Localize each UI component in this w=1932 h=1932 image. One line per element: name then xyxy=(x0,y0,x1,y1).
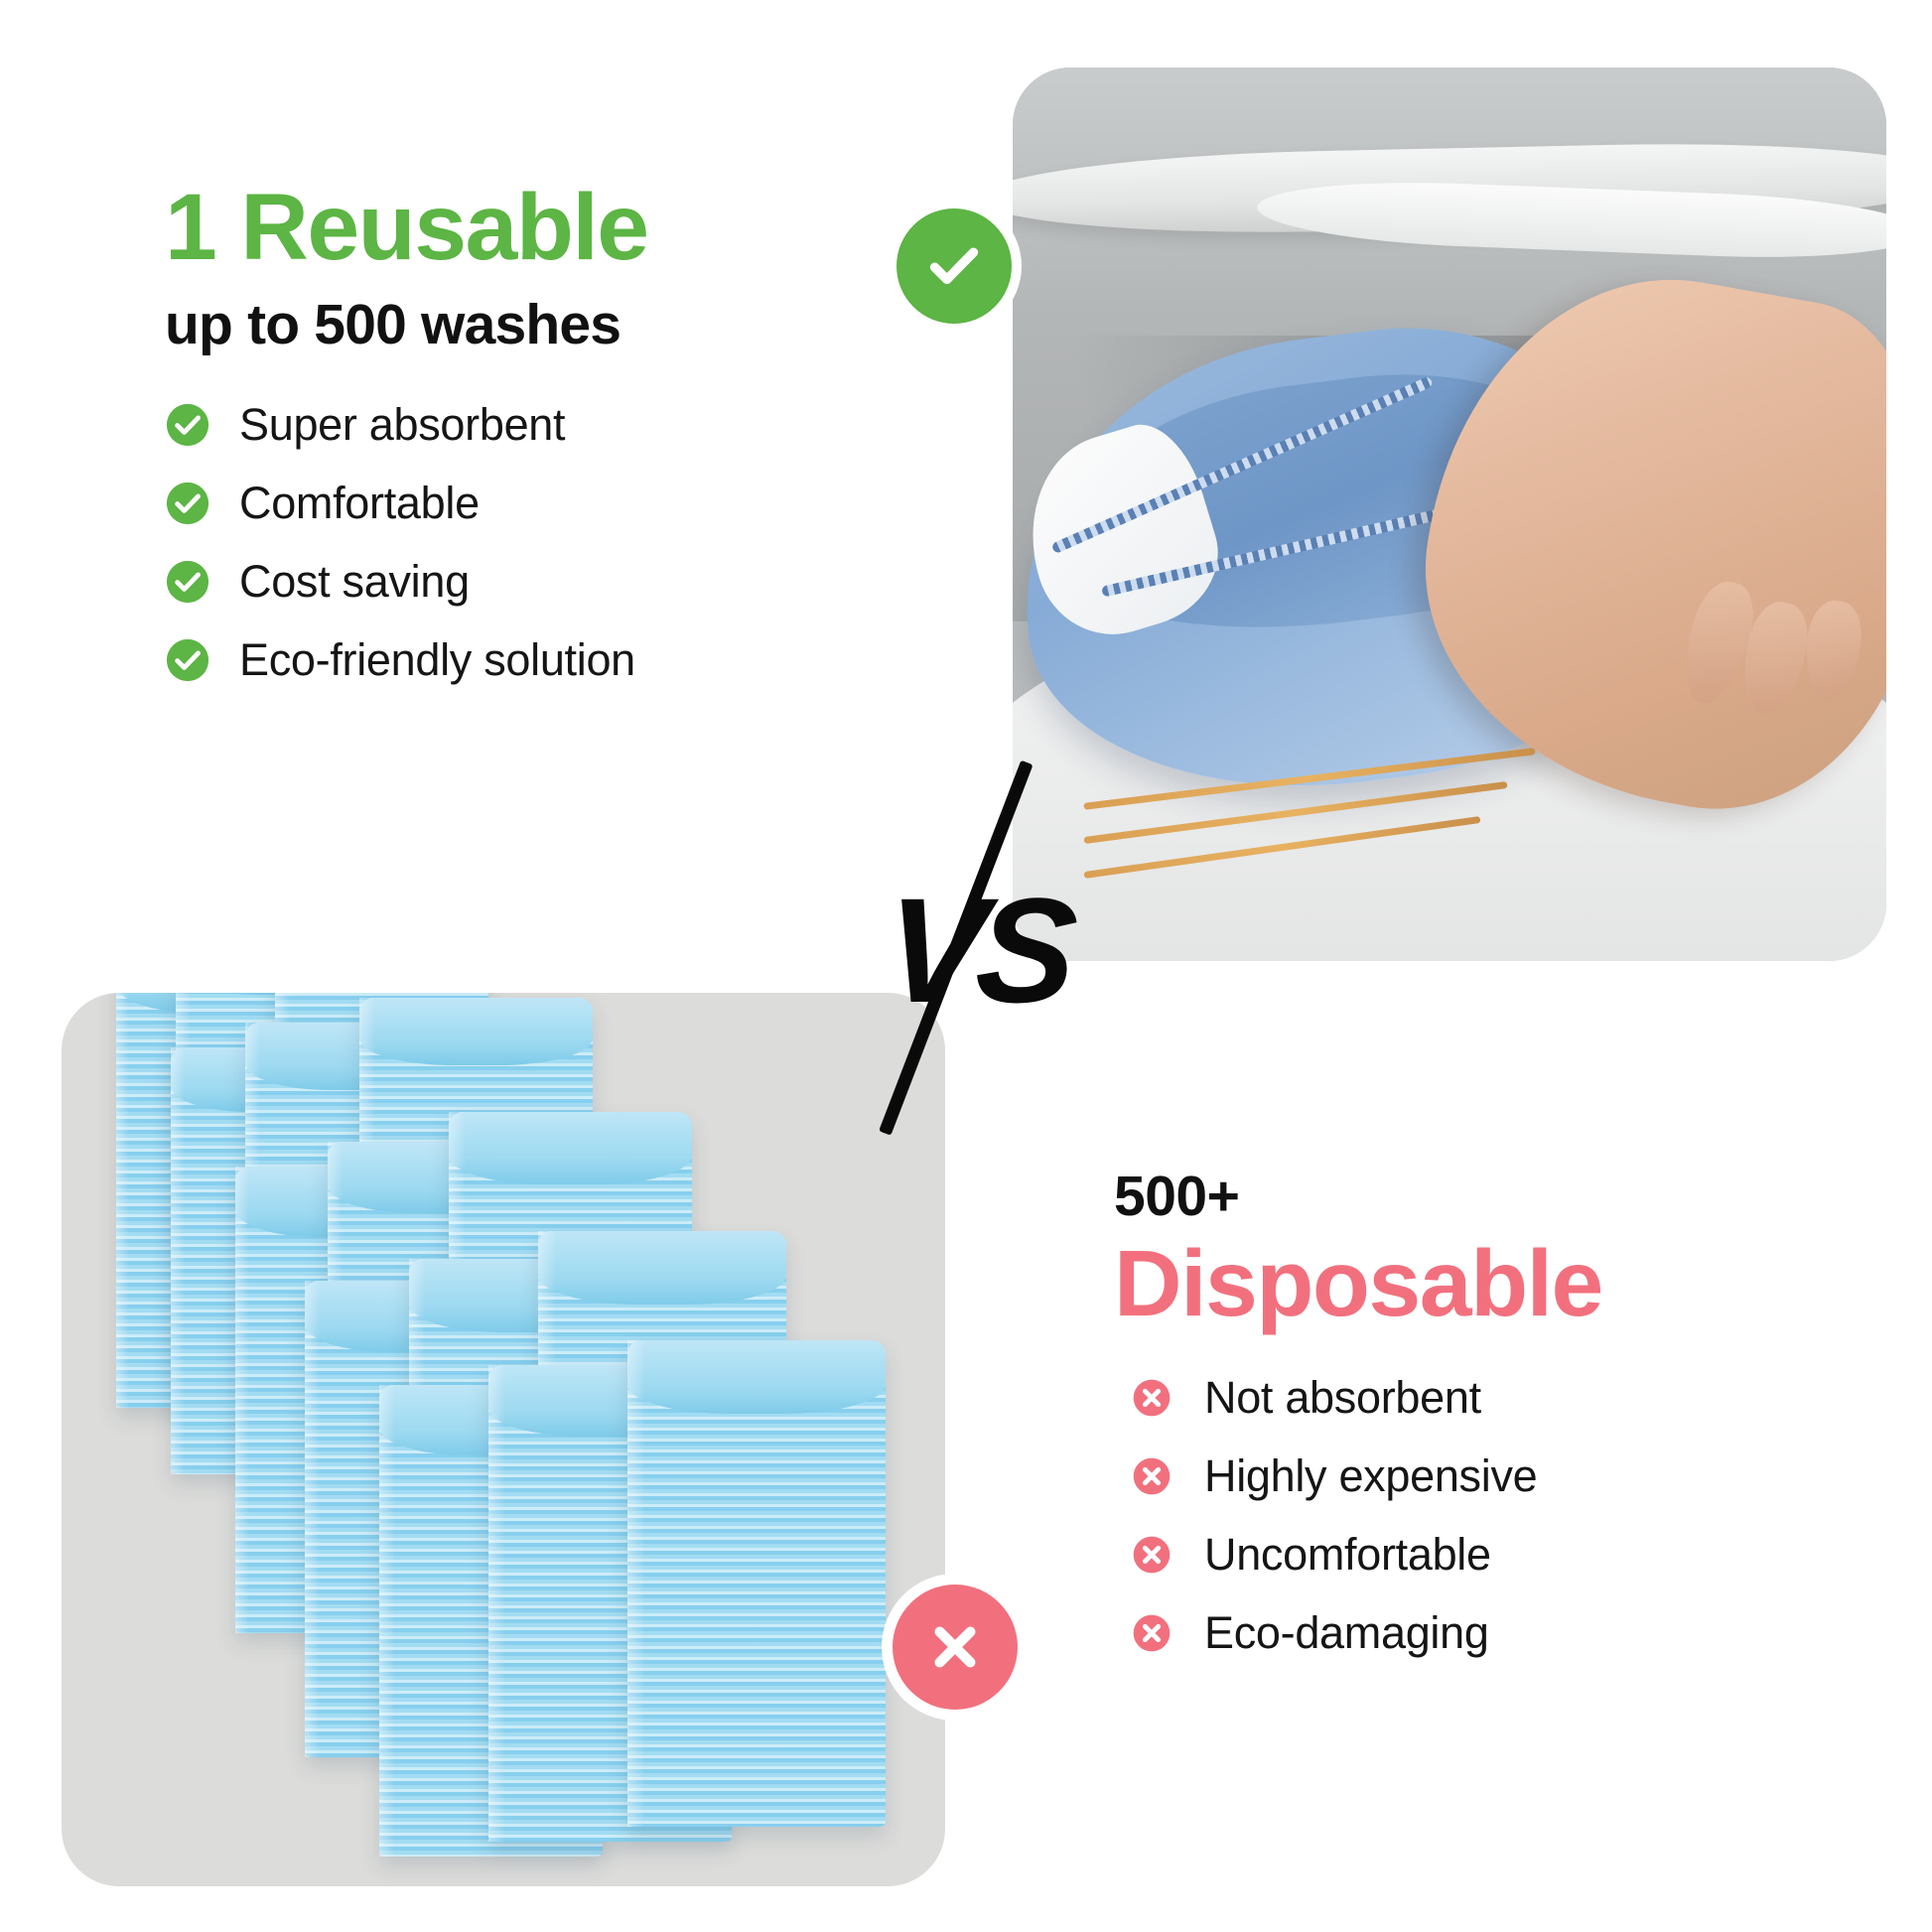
x-circle-icon xyxy=(893,1585,1018,1710)
disposable-count: 500+ xyxy=(1114,1164,1868,1229)
list-item-label: Eco-damaging xyxy=(1204,1607,1489,1659)
list-item: Comfortable xyxy=(165,478,860,529)
list-item: Eco-friendly solution xyxy=(165,634,860,686)
pad-stack xyxy=(627,1340,886,1827)
list-item: Eco-damaging xyxy=(1114,1607,1868,1659)
reusable-section: 1 Reusable up to 500 washes Super absorb… xyxy=(165,179,860,713)
disposable-section: 500+ Disposable Not absorbent xyxy=(1114,1164,1868,1686)
check-circle-icon xyxy=(165,481,210,526)
list-item-label: Super absorbent xyxy=(239,399,565,451)
list-item-label: Not absorbent xyxy=(1204,1372,1481,1424)
check-circle-icon xyxy=(165,637,210,683)
list-item-label: Comfortable xyxy=(239,478,480,529)
reusable-title: 1 Reusable xyxy=(165,179,860,278)
check-circle-badge xyxy=(887,199,1022,334)
infographic-canvas: 1 Reusable up to 500 washes Super absorb… xyxy=(0,0,1932,1932)
disposable-title: Disposable xyxy=(1114,1235,1868,1334)
finger xyxy=(1801,599,1866,703)
list-item: Not absorbent xyxy=(1114,1372,1868,1424)
reusable-feature-list: Super absorbent Comfortable xyxy=(165,399,860,686)
list-item: Highly expensive xyxy=(1114,1450,1868,1502)
check-circle-icon xyxy=(897,208,1012,324)
x-circle-badge xyxy=(882,1574,1029,1721)
check-circle-icon xyxy=(165,559,210,605)
reusable-subtitle: up to 500 washes xyxy=(165,292,860,357)
list-item: Super absorbent xyxy=(165,399,860,451)
check-circle-icon xyxy=(165,402,210,448)
disposable-pad-stacks-photo xyxy=(62,993,945,1886)
list-item-label: Cost saving xyxy=(239,556,470,608)
list-item: Cost saving xyxy=(165,556,860,608)
list-item-label: Eco-friendly solution xyxy=(239,634,635,686)
x-circle-icon xyxy=(1132,1456,1172,1496)
list-item-label: Uncomfortable xyxy=(1204,1529,1491,1581)
list-item-label: Highly expensive xyxy=(1204,1450,1537,1502)
list-item: Uncomfortable xyxy=(1114,1529,1868,1581)
x-circle-icon xyxy=(1132,1535,1172,1575)
vs-divider: VS xyxy=(874,784,1162,1142)
disposable-drawback-list: Not absorbent Highly expensive xyxy=(1114,1372,1868,1659)
x-circle-icon xyxy=(1132,1378,1172,1418)
x-circle-icon xyxy=(1132,1613,1172,1653)
